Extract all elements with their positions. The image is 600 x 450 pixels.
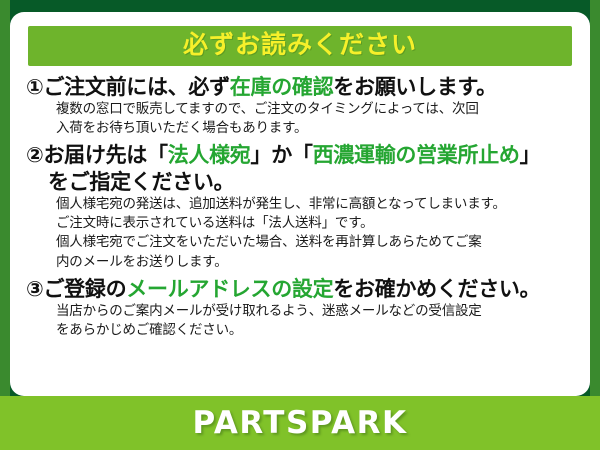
notice-item-detail-line: 当店からのご案内メールが受け取れるよう、迷惑メールなどの受信設定	[26, 302, 576, 321]
notice-item-detail-line: 内のメールをお送りします。	[26, 253, 576, 272]
notice-item-detail-line: 入荷をお待ち頂いただく場合もあります。	[26, 119, 576, 138]
heading-text: 」	[520, 143, 541, 167]
heading-text: をお確かめください。	[333, 277, 540, 301]
heading-text: 」か「	[251, 143, 313, 167]
footer-bar: PARTSPARK	[0, 396, 600, 450]
right-green-rail	[590, 0, 600, 450]
partspark-logo: PARTSPARK	[192, 405, 407, 441]
heading-text: ご登録の	[43, 277, 126, 301]
notice-item: ②お届け先は「法人様宛」か「西濃運輸の営業所止め」をご指定ください。個人様宅宛の…	[26, 142, 576, 272]
notice-item-detail-line: ご注文時に表示されている送料は「法人送料」です。	[26, 214, 576, 233]
banner-title: 必ずお読みください	[28, 31, 572, 59]
highlighted-phrase: 法人様宛	[168, 143, 251, 167]
heading-text: をお願いします。	[333, 75, 497, 99]
heading-text: ご注文前には、必ず	[43, 75, 229, 99]
notice-item-detail-line: をあらかじめご確認ください。	[26, 321, 576, 340]
notice-item-heading: ①ご注文前には、必ず在庫の確認をお願いします。	[26, 74, 576, 100]
notice-item-detail-line: 個人様宅宛の発送は、追加送料が発生し、非常に高額となってしまいます。	[26, 195, 576, 214]
notice-item-number: ③	[26, 277, 43, 301]
header-banner: 必ずお読みください	[28, 26, 572, 66]
notice-item-heading: ②お届け先は「法人様宛」か「西濃運輸の営業所止め」	[26, 142, 576, 168]
highlighted-phrase: メールアドレスの設定	[126, 277, 333, 301]
heading-text: お届け先は「	[43, 143, 167, 167]
highlighted-phrase: 在庫の確認	[230, 75, 334, 99]
notice-card: 必ずお読みください ①ご注文前には、必ず在庫の確認をお願いします。複数の窓口で販…	[10, 12, 590, 396]
left-green-rail	[0, 0, 10, 450]
notice-item-heading-line2: をご指定ください。	[26, 169, 576, 195]
notice-item-number: ②	[26, 143, 43, 167]
notice-item-detail-line: 複数の窓口で販売してますので、ご注文のタイミングによっては、次回	[26, 100, 576, 119]
notice-item-detail-line: 個人様宅宛でご注文をいただいた場合、送料を再計算しあらためてご案	[26, 233, 576, 252]
notice-item: ③ご登録のメールアドレスの設定をお確かめください。当店からのご案内メールが受け取…	[26, 276, 576, 341]
notice-item-heading: ③ご登録のメールアドレスの設定をお確かめください。	[26, 276, 576, 302]
notice-item-number: ①	[26, 75, 43, 99]
highlighted-phrase: 西濃運輸の営業所止め	[313, 143, 520, 167]
notice-body: ①ご注文前には、必ず在庫の確認をお願いします。複数の窓口で販売してますので、ご注…	[10, 74, 590, 341]
notice-panel: 必ずお読みください ①ご注文前には、必ず在庫の確認をお願いします。複数の窓口で販…	[0, 0, 600, 450]
notice-item: ①ご注文前には、必ず在庫の確認をお願いします。複数の窓口で販売してますので、ご注…	[26, 74, 576, 139]
